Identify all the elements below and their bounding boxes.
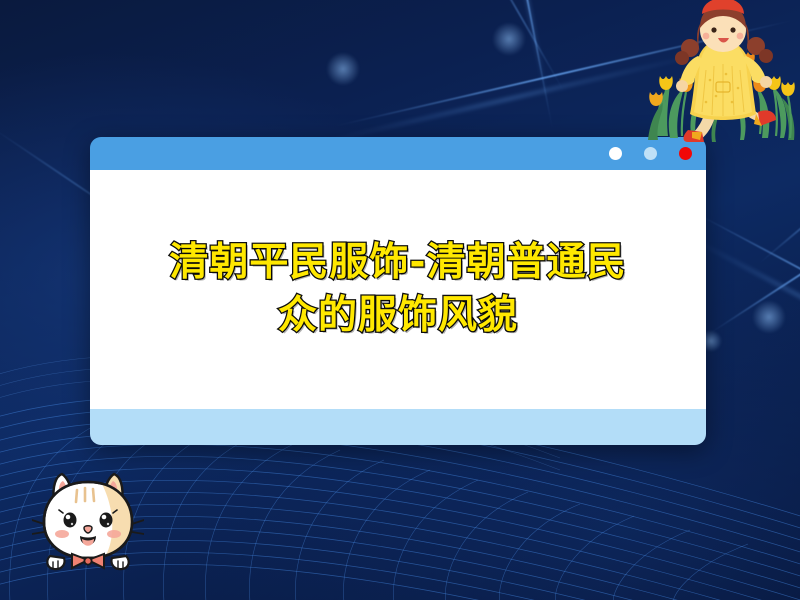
page-title-line-1: 清朝平民服饰-清朝普通民 <box>169 237 626 289</box>
slide-canvas: 清朝平民服饰-清朝普通民 众的服饰风貌 <box>0 0 800 600</box>
page-title-line-2: 众的服饰风貌 <box>169 290 626 342</box>
minimize-dot-icon[interactable] <box>609 147 622 160</box>
page-title: 清朝平民服饰-清朝普通民 众的服饰风貌 <box>147 237 648 342</box>
window-footer-bar <box>90 409 706 445</box>
girl-in-tulips-illustration <box>648 0 800 142</box>
close-dot-icon[interactable] <box>679 147 692 160</box>
browser-window: 清朝平民服饰-清朝普通民 众的服饰风貌 <box>90 137 706 445</box>
window-titlebar[interactable] <box>90 137 706 170</box>
window-content-area: 清朝平民服饰-清朝普通民 众的服饰风貌 <box>90 170 706 409</box>
maximize-dot-icon[interactable] <box>644 147 657 160</box>
cartoon-cat-illustration <box>32 468 144 572</box>
